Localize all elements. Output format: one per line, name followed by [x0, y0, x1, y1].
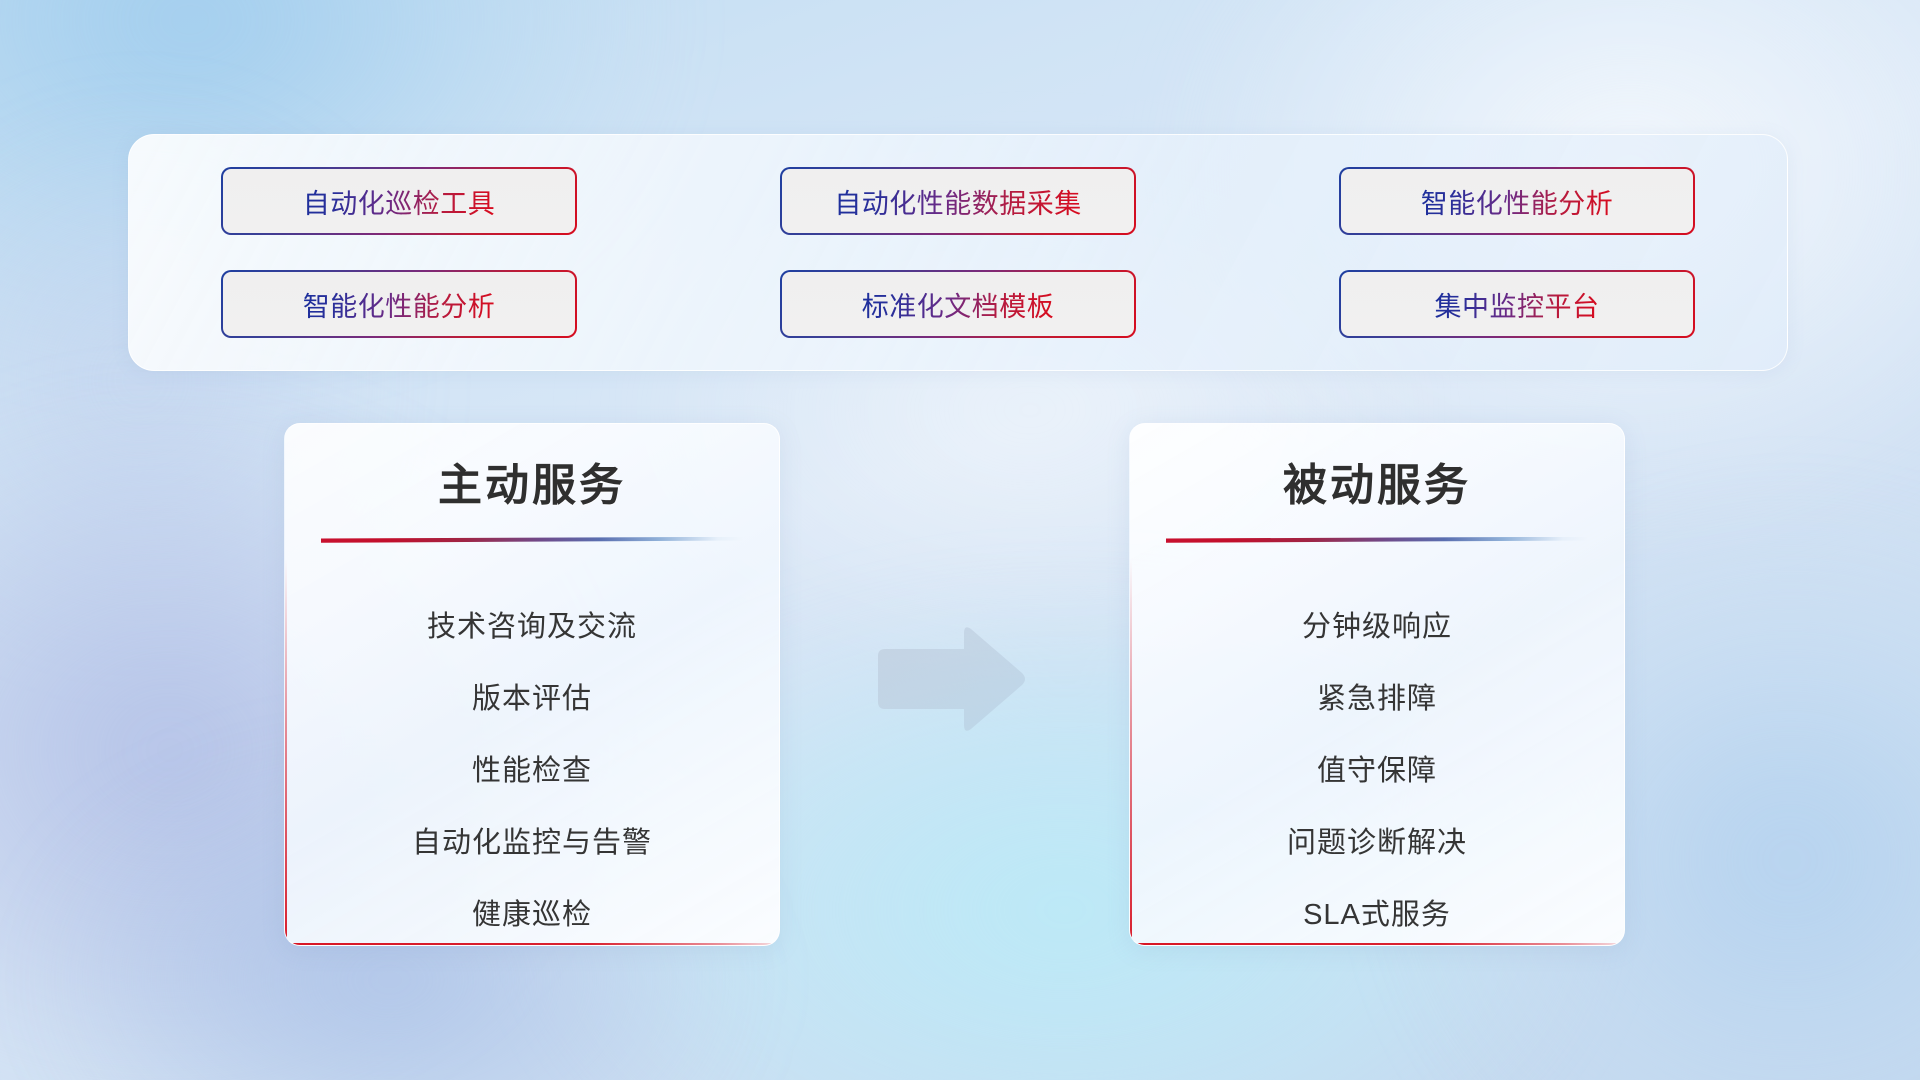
list-item: 自动化监控与告警 [285, 807, 779, 879]
capability-chip-label: 自动化性能数据采集 [834, 182, 1082, 221]
list-item: SLA式服务 [1130, 879, 1624, 946]
active-service-title: 主动服务 [285, 460, 779, 513]
capability-chip-centralized-monitoring-platform[interactable]: 集中监控平台 [1339, 270, 1695, 338]
capability-chip-label: 标准化文档模板 [862, 285, 1055, 324]
list-item: 版本评估 [285, 663, 779, 735]
passive-service-title: 被动服务 [1130, 460, 1624, 513]
divider-bar [321, 537, 743, 543]
passive-service-divider [1166, 535, 1588, 545]
list-item: 技术咨询及交流 [285, 591, 779, 663]
capability-row-2: 智能化性能分析 标准化文档模板 集中监控平台 [221, 270, 1695, 338]
passive-service-card: 被动服务 分钟级响应 紧急排障 值守保障 问题诊断解决 SLA式服务 [1129, 423, 1625, 946]
capability-chip-standardized-document-template[interactable]: 标准化文档模板 [780, 270, 1136, 338]
capability-chip-label: 自动化巡检工具 [303, 182, 496, 221]
page-background: 自动化巡检工具 自动化性能数据采集 智能化性能分析 智能化性能分析 标准化文档模… [0, 0, 1920, 1080]
list-item: 问题诊断解决 [1130, 807, 1624, 879]
capability-panel: 自动化巡检工具 自动化性能数据采集 智能化性能分析 智能化性能分析 标准化文档模… [128, 134, 1788, 371]
active-service-divider [321, 535, 743, 545]
list-item: 分钟级响应 [1130, 591, 1624, 663]
capability-chip-automation-inspection-tool[interactable]: 自动化巡检工具 [221, 167, 577, 235]
capability-chip-label: 集中监控平台 [1435, 285, 1600, 324]
capability-chip-label: 智能化性能分析 [1421, 182, 1614, 221]
list-item: 值守保障 [1130, 735, 1624, 807]
list-item: 健康巡检 [285, 879, 779, 946]
capability-chip-intelligent-performance-analysis-top[interactable]: 智能化性能分析 [1339, 167, 1695, 235]
divider-bar [1166, 537, 1588, 543]
capability-row-1: 自动化巡检工具 自动化性能数据采集 智能化性能分析 [221, 167, 1695, 235]
active-service-list: 技术咨询及交流 版本评估 性能检查 自动化监控与告警 健康巡检 [285, 591, 779, 946]
list-item: 紧急排障 [1130, 663, 1624, 735]
capability-chip-intelligent-performance-analysis-bottom[interactable]: 智能化性能分析 [221, 270, 577, 338]
capability-chip-label: 智能化性能分析 [303, 285, 496, 324]
passive-service-list: 分钟级响应 紧急排障 值守保障 问题诊断解决 SLA式服务 [1130, 591, 1624, 946]
capability-chip-automation-performance-data-collection[interactable]: 自动化性能数据采集 [780, 167, 1136, 235]
list-item: 性能检查 [285, 735, 779, 807]
flow-arrow-right-icon [872, 623, 1030, 735]
active-service-card: 主动服务 技术咨询及交流 版本评估 性能检查 自动化监控与告警 健康巡检 [284, 423, 780, 946]
